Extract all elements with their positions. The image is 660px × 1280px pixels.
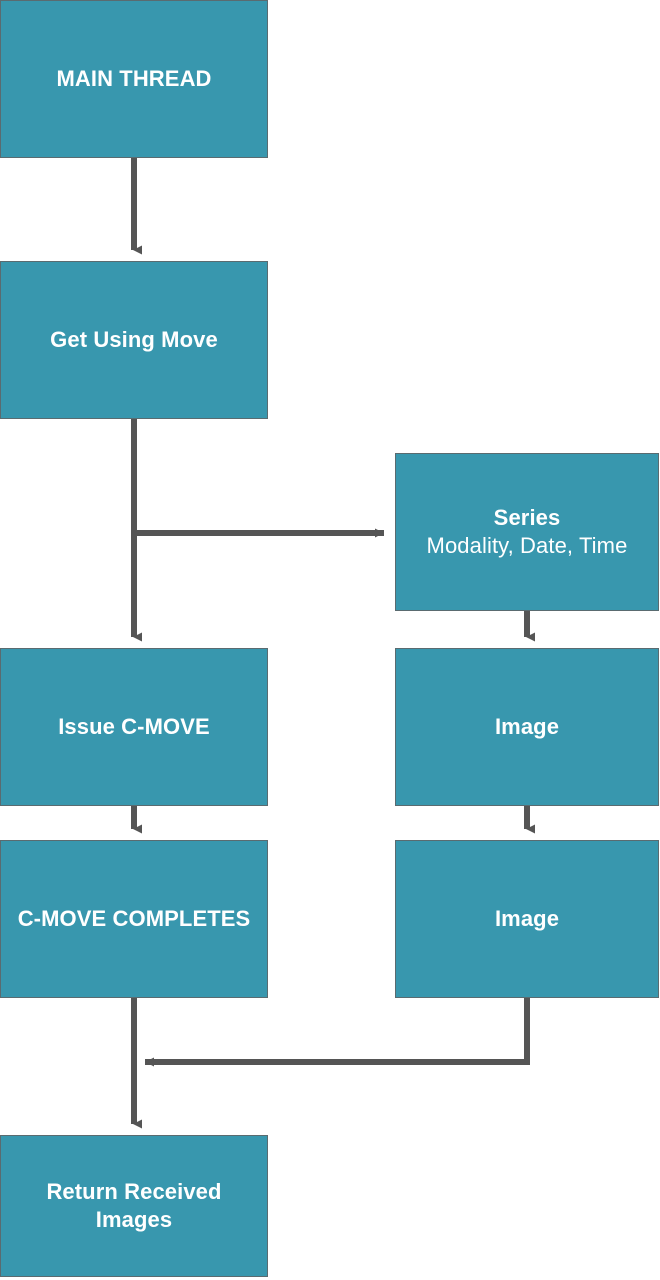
node-image-2-label: Image — [402, 905, 652, 933]
node-issue-c-move-label: Issue C-MOVE — [7, 713, 261, 741]
node-return-received-images[interactable]: Return Received Images — [0, 1135, 268, 1277]
node-c-move-completes-label: C-MOVE COMPLETES — [7, 905, 261, 933]
node-main-thread[interactable]: MAIN THREAD — [0, 0, 268, 158]
node-main-thread-label: MAIN THREAD — [7, 65, 261, 93]
node-c-move-completes-text: C-MOVE COMPLETES — [7, 905, 261, 933]
node-return-received-images-label: Return Received Images — [7, 1178, 261, 1234]
flowchart-diagram: MAIN THREAD Get Using Move Series Modali… — [0, 0, 660, 1280]
node-get-using-move-text: Get Using Move — [7, 326, 261, 354]
node-image-2-text: Image — [402, 905, 652, 933]
edge-image-2-to-return-received-images — [145, 998, 527, 1062]
node-main-thread-text: MAIN THREAD — [7, 65, 261, 93]
node-series[interactable]: Series Modality, Date, Time — [395, 453, 659, 611]
node-image-1-text: Image — [402, 713, 652, 741]
edge-layer — [0, 0, 660, 1280]
node-image-2[interactable]: Image — [395, 840, 659, 998]
node-image-1-label: Image — [402, 713, 652, 741]
node-image-1[interactable]: Image — [395, 648, 659, 806]
node-series-label: Series — [402, 504, 652, 532]
node-return-received-images-text: Return Received Images — [7, 1178, 261, 1234]
node-get-using-move-label: Get Using Move — [7, 326, 261, 354]
node-issue-c-move[interactable]: Issue C-MOVE — [0, 648, 268, 806]
node-series-sublabel: Modality, Date, Time — [402, 532, 652, 560]
node-get-using-move[interactable]: Get Using Move — [0, 261, 268, 419]
node-issue-c-move-text: Issue C-MOVE — [7, 713, 261, 741]
node-series-text: Series Modality, Date, Time — [402, 504, 652, 560]
node-c-move-completes[interactable]: C-MOVE COMPLETES — [0, 840, 268, 998]
